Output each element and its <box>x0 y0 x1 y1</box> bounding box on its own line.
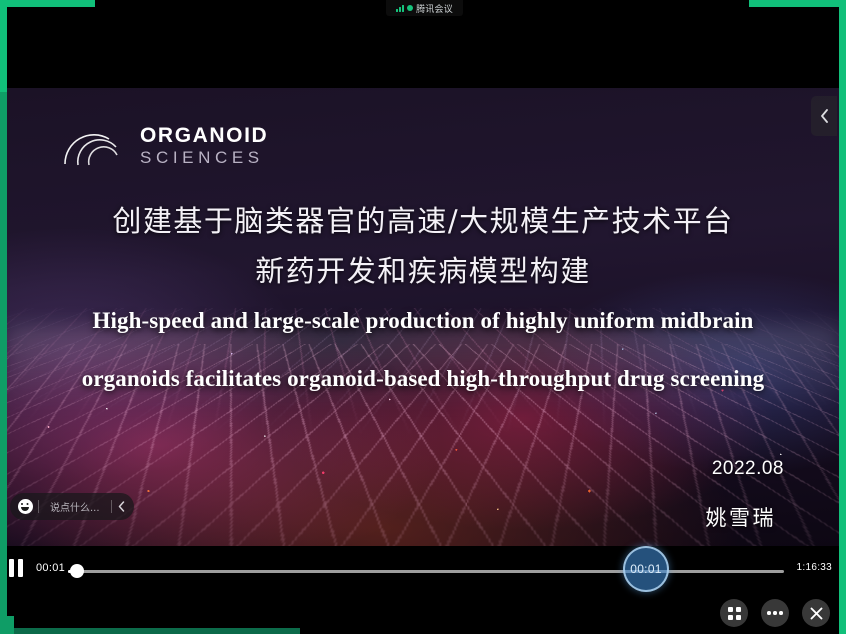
organoid-arc-logo-icon <box>62 122 126 168</box>
grid-view-button[interactable] <box>720 599 748 627</box>
share-border-top-left <box>0 0 95 7</box>
side-panel-toggle-button[interactable] <box>811 96 837 136</box>
organoid-sciences-logo: ORGANOID SCIENCES <box>62 122 268 168</box>
comment-bar[interactable]: 说点什么... <box>10 493 134 520</box>
logo-line-1: ORGANOID <box>140 125 268 146</box>
chevron-left-icon <box>820 109 829 123</box>
comment-collapse-button[interactable] <box>112 494 132 520</box>
chevron-left-icon <box>118 501 125 512</box>
share-border-left <box>0 0 7 92</box>
smiley-face-icon <box>18 499 33 514</box>
seek-bubble-time: 00:01 <box>630 562 662 576</box>
more-options-button[interactable] <box>761 599 789 627</box>
grid-icon <box>728 607 741 620</box>
emoji-picker-button[interactable] <box>12 494 38 520</box>
screen-share-viewer: ORGANOID SCIENCES 创建基于脑类器官的高速/大规模生产技术平台 … <box>0 0 846 634</box>
slide-date: 2022.08 <box>712 458 784 480</box>
meeting-app-name: 腾讯会议 <box>416 2 453 15</box>
green-dot-icon <box>407 5 413 11</box>
seek-preview-bubble[interactable]: 00:01 <box>623 546 669 592</box>
slide-title-en-line2: organoids facilitates organoid-based hig… <box>0 366 846 392</box>
meeting-status-pill[interactable]: 腾讯会议 <box>386 0 463 16</box>
logo-wordmark: ORGANOID SCIENCES <box>140 125 268 166</box>
logo-line-2: SCIENCES <box>140 149 268 166</box>
signal-bars-icon <box>396 4 404 12</box>
slide-title-cn-line2: 新药开发和疾病模型构建 <box>0 248 846 290</box>
progress-track[interactable] <box>68 570 784 573</box>
current-time-label: 00:01 <box>36 562 65 574</box>
slide-title-en-line1: High-speed and large-scale production of… <box>0 308 846 334</box>
pause-button[interactable] <box>9 559 29 577</box>
pause-icon-bar-right <box>18 559 23 577</box>
slide-author: 姚雪瑞 <box>706 502 777 532</box>
total-time-label: 1:16:33 <box>797 562 832 573</box>
close-icon <box>810 607 823 620</box>
letterbox-top <box>7 7 839 88</box>
slide-title-cn-line1: 创建基于脑类器官的高速/大规模生产技术平台 <box>0 198 846 240</box>
share-border-left-lower <box>0 92 7 634</box>
share-border-top-right <box>749 0 846 7</box>
progress-knob[interactable] <box>70 564 84 578</box>
video-player-controls <box>7 546 839 634</box>
corner-controls <box>720 599 830 627</box>
ellipsis-icon <box>767 611 783 615</box>
close-button[interactable] <box>802 599 830 627</box>
comment-input[interactable]: 说点什么... <box>39 499 111 514</box>
pause-icon-bar-left <box>9 559 14 577</box>
